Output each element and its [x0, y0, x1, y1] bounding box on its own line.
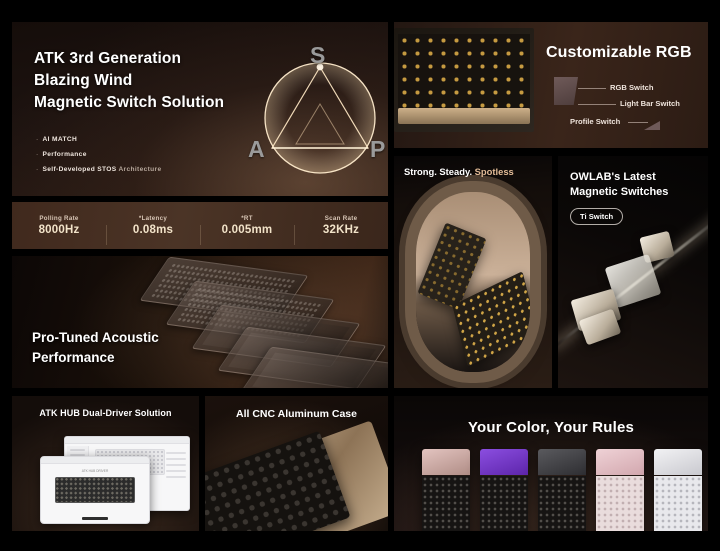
panel-spec-bar: Polling Rate 8000Hz *Latency 0.08ms *RT …: [12, 202, 388, 249]
hub-title: ATK HUB Dual-Driver Solution: [12, 408, 199, 418]
spec-label: Polling Rate: [12, 215, 106, 222]
airplane-window: [416, 192, 530, 372]
spec-value: 8000Hz: [12, 224, 106, 236]
acoustic-title-line-2: Performance: [32, 348, 159, 368]
rgb-callout-swatch: [554, 77, 578, 105]
hero-bullet-performance: ·Performance: [36, 151, 161, 158]
acoustic-title-line-1: Pro-Tuned Acoustic: [32, 328, 159, 348]
hub-app-caption: ATK HUB DRIVER: [41, 469, 149, 473]
variant-keycaps: [654, 476, 702, 531]
ti-switch-badge: Ti Switch: [570, 208, 623, 225]
cnc-case-photo: [205, 413, 388, 531]
hero-title-line-3: Magnetic Switch Solution: [34, 92, 224, 114]
variant-keycaps: [538, 476, 586, 531]
keyboard-variant-white-silver: [654, 449, 702, 531]
window-keyboard-preview: [55, 477, 135, 503]
keyboard-variant-pink: [596, 449, 644, 531]
bullet-dot-icon: ·: [36, 151, 39, 158]
emblem-letter-a: A: [248, 136, 265, 163]
spec-latency: *Latency 0.08ms: [106, 215, 200, 236]
rgb-title: Customizable RGB: [546, 44, 692, 62]
window-titlebar: [65, 437, 189, 444]
keyboard-variant-row: [422, 449, 702, 531]
spec-label: *RT: [200, 215, 294, 222]
variant-top-shell: [596, 449, 644, 475]
callout-light-bar-switch: Light Bar Switch: [620, 99, 680, 108]
spec-label: Scan Rate: [294, 215, 388, 222]
emblem-letter-p: P: [370, 136, 385, 163]
panel-customizable-rgb: Customizable RGB RGB Switch Light Bar Sw…: [394, 22, 708, 148]
keyboard-variant-rose-gold: [422, 449, 470, 531]
panel-your-color-your-rules: Your Color, Your Rules: [394, 396, 708, 531]
owlab-title: OWLAB's Latest Magnetic Switches: [570, 170, 668, 200]
emblem-letter-s: S: [310, 42, 325, 69]
airplane-title-white: Strong. Steady.: [404, 166, 475, 177]
keyboard-variant-purple: [480, 449, 528, 531]
variant-top-shell: [538, 449, 586, 475]
rgb-keyboard-photo: [394, 28, 534, 132]
window-titlebar: [41, 457, 149, 464]
panel-atk-hub: ATK HUB Dual-Driver Solution ATK HUB DRI…: [12, 396, 199, 531]
exploded-layer-stack: [142, 260, 388, 388]
color-title: Your Color, Your Rules: [394, 419, 708, 436]
variant-top-shell: [422, 449, 470, 475]
callout-rgb-switch: RGB Switch: [610, 83, 653, 92]
hero-feature-list: ·AI MATCH ·Performance ·Self-Developed S…: [36, 136, 161, 181]
panel-cnc-aluminum-case: All CNC Aluminum Case: [205, 396, 388, 531]
panel-hero-magnetic-switch: ATK 3rd Generation Blazing Wind Magnetic…: [12, 22, 388, 196]
spec-scan-rate: Scan Rate 32KHz: [294, 215, 388, 236]
leader-line-profile: [628, 122, 648, 123]
owlab-title-line-2: Magnetic Switches: [570, 185, 668, 200]
rgb-switch-array: [398, 34, 530, 108]
leader-line-rgb-switch: [578, 88, 606, 89]
callout-profile-switch: Profile Switch: [570, 117, 620, 126]
collage-stage: ATK 3rd Generation Blazing Wind Magnetic…: [0, 0, 720, 551]
spec-value: 0.005mm: [200, 224, 294, 236]
variant-keycaps: [596, 476, 644, 531]
keyboard-variant-dark-gray: [538, 449, 586, 531]
panel-owlab-switches: OWLAB's Latest Magnetic Switches Ti Swit…: [558, 156, 708, 388]
emblem-triangle-circle-icon: [258, 56, 382, 180]
variant-keycaps: [480, 476, 528, 531]
hero-title: ATK 3rd Generation Blazing Wind Magnetic…: [34, 48, 224, 114]
window-footer-bar: [82, 517, 108, 520]
panel-acoustic-performance: Pro-Tuned Acoustic Performance: [12, 256, 388, 388]
variant-top-shell: [480, 449, 528, 475]
spec-rt: *RT 0.005mm: [200, 215, 294, 236]
variant-top-shell: [654, 449, 702, 475]
rgb-aluminum-plate: [398, 108, 530, 124]
window-right-panel: [166, 448, 186, 482]
spec-value: 0.08ms: [106, 224, 200, 236]
airplane-title: Strong. Steady. Spotless: [404, 166, 514, 177]
hero-title-line-2: Blazing Wind: [34, 70, 224, 92]
variant-keycaps: [422, 476, 470, 531]
leader-line-light-bar: [578, 104, 616, 105]
bullet-dot-icon: ·: [36, 136, 39, 143]
airplane-title-accent: Spotless: [475, 166, 514, 177]
owlab-title-line-1: OWLAB's Latest: [570, 170, 668, 185]
hero-title-line-1: ATK 3rd Generation: [34, 48, 224, 70]
hero-bullet-stos: ·Self-Developed STOS Architecture: [36, 166, 161, 173]
panel-strong-steady-spotless: Strong. Steady. Spotless: [394, 156, 552, 388]
spec-label: *Latency: [106, 215, 200, 222]
spec-value: 32KHz: [294, 224, 388, 236]
acoustic-title: Pro-Tuned Acoustic Performance: [32, 328, 159, 367]
bullet-dot-icon: ·: [36, 166, 39, 173]
software-window-front: ATK HUB DRIVER: [40, 456, 150, 524]
spec-polling-rate: Polling Rate 8000Hz: [12, 215, 106, 236]
hero-bullet-ai-match: ·AI MATCH: [36, 136, 161, 143]
stos-emblem: S A P: [244, 40, 388, 190]
